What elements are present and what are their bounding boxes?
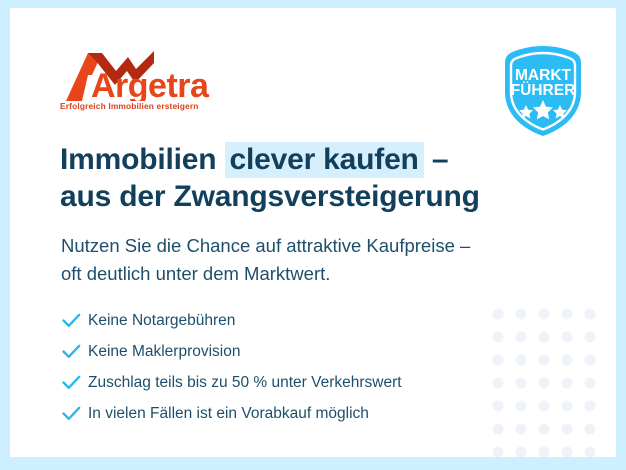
headline-line2: aus der Zwangsversteigerung <box>60 180 480 213</box>
list-item-label: Zuschlag teils bis zu 50 % unter Verkehr… <box>88 374 402 392</box>
list-item-label: Keine Maklerprovision <box>88 343 241 361</box>
headline-part1: Immobilien <box>60 143 225 176</box>
argetra-logo-icon: Argetra <box>58 49 218 101</box>
benefits-list: Keine Notargebühren Keine Maklerprovisio… <box>62 305 512 429</box>
list-item-label: Keine Notargebühren <box>88 312 235 330</box>
list-item: In vielen Fällen ist ein Vorabkauf mögli… <box>62 398 512 429</box>
marktfuehrer-badge: MARKT FÜHRER <box>497 44 589 138</box>
promo-banner: Argetra Erfolgreich Immobilien ersteiger… <box>0 0 626 470</box>
check-icon <box>62 313 88 328</box>
svg-text:Argetra: Argetra <box>91 67 210 101</box>
subheadline-line2: oft deutlich unter dem Marktwert. <box>61 263 330 284</box>
badge-line2-text: FÜHRER <box>511 82 576 99</box>
list-item: Zuschlag teils bis zu 50 % unter Verkehr… <box>62 367 512 398</box>
list-item: Keine Notargebühren <box>62 305 512 336</box>
list-item-label: In vielen Fällen ist ein Vorabkauf mögli… <box>88 405 369 423</box>
check-icon <box>62 375 88 390</box>
banner-card: Argetra Erfolgreich Immobilien ersteiger… <box>10 8 616 457</box>
list-item: Keine Maklerprovision <box>62 336 512 367</box>
headline-highlight: clever kaufen <box>225 142 424 178</box>
page-title: Immobilien clever kaufen – aus der Zwang… <box>60 141 540 215</box>
check-icon <box>62 406 88 421</box>
headline-part2: – <box>424 143 449 176</box>
check-icon <box>62 344 88 359</box>
argetra-logo[interactable]: Argetra Erfolgreich Immobilien ersteiger… <box>58 49 218 117</box>
logo-tagline: Erfolgreich Immobilien ersteigern <box>60 101 199 111</box>
subheadline-line1: Nutzen Sie die Chance auf attraktive Kau… <box>61 235 470 256</box>
page-subtitle: Nutzen Sie die Chance auf attraktive Kau… <box>61 232 561 288</box>
